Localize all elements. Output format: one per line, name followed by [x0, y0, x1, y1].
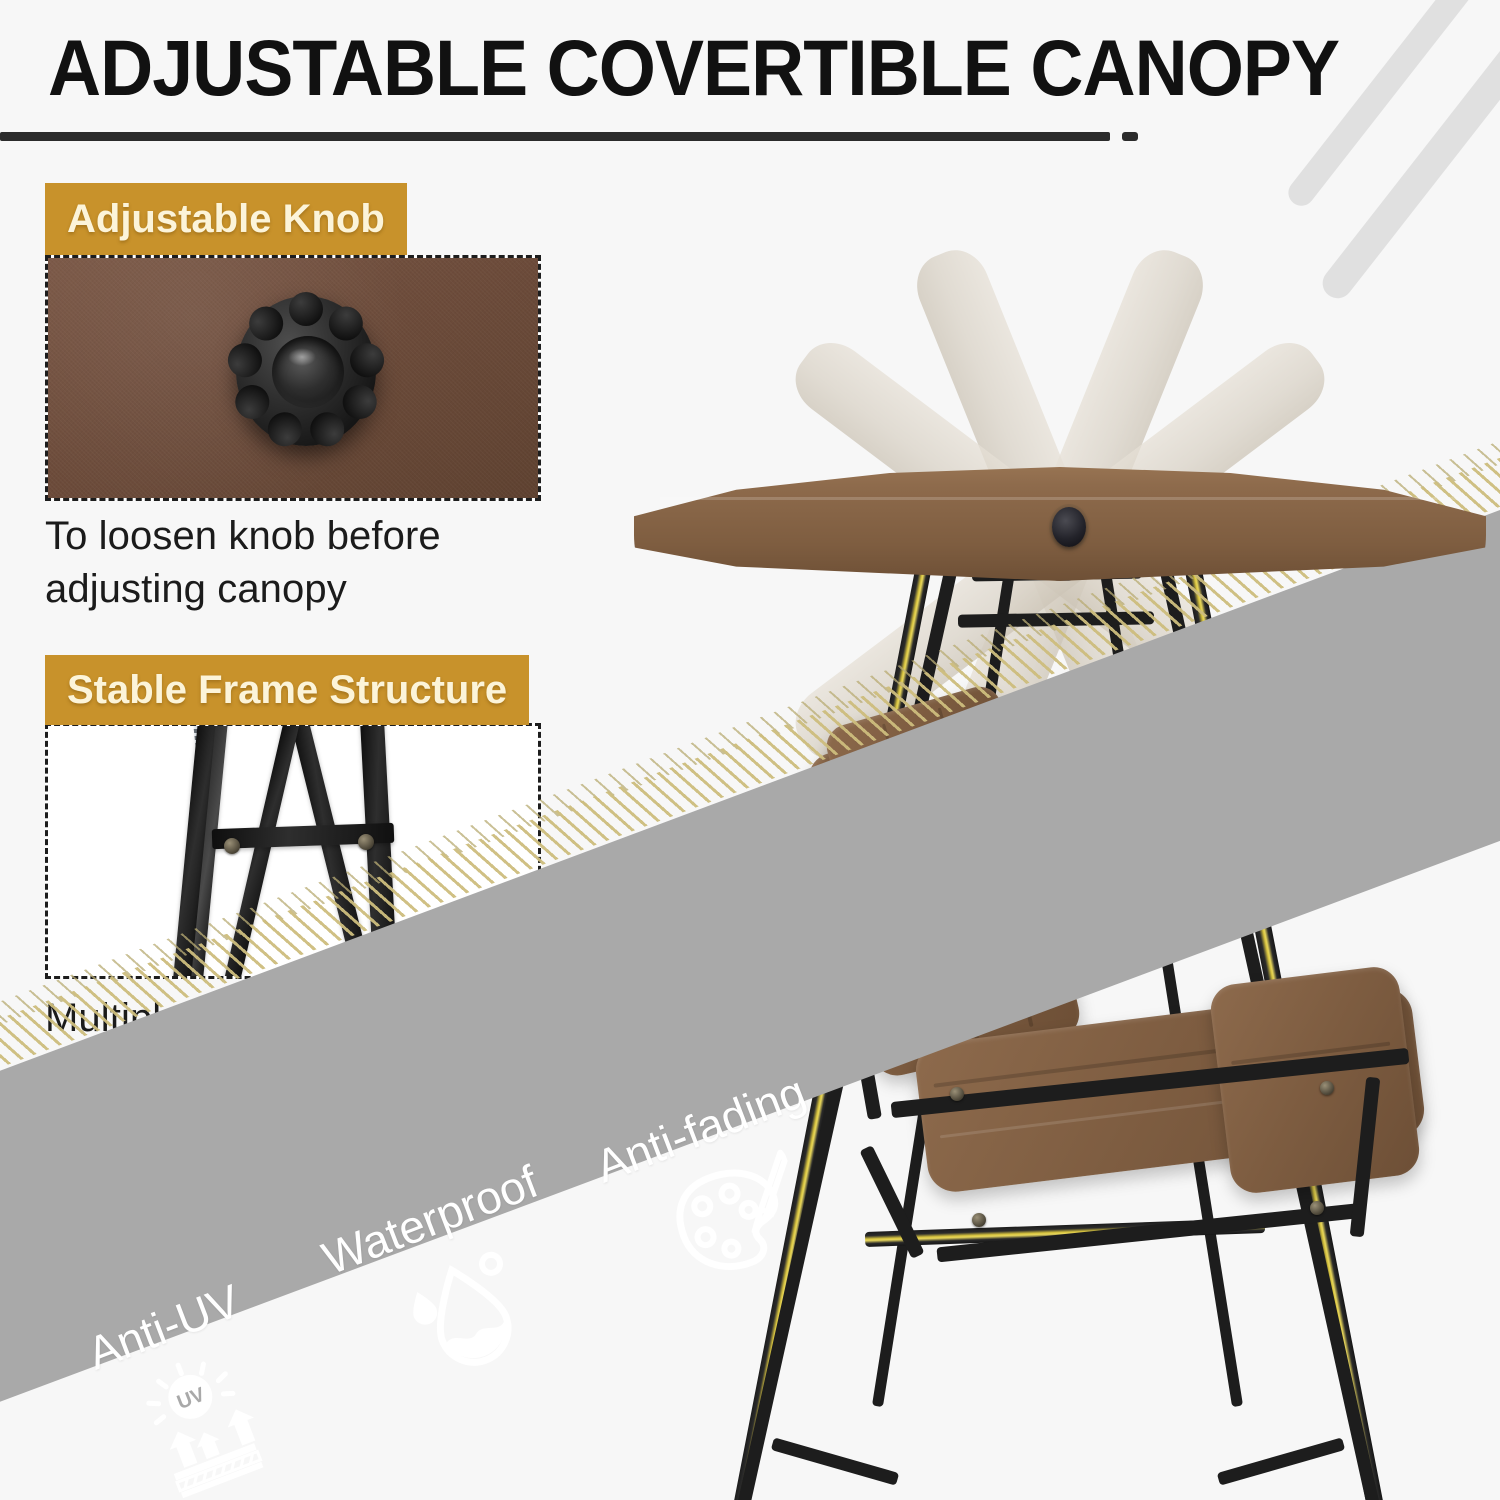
adjustable-knob-caption: To loosen knob before adjusting canopy	[45, 510, 525, 616]
stable-frame-banner: Stable Frame Structure	[45, 655, 529, 725]
knob-icon	[236, 296, 376, 446]
canopy-adjust-knob-icon	[1052, 507, 1086, 547]
title-divider-rule	[0, 132, 1110, 141]
adjustable-knob-banner-label: Adjustable Knob	[67, 197, 385, 242]
stable-frame-banner-label: Stable Frame Structure	[67, 668, 507, 713]
adjustable-knob-banner: Adjustable Knob	[45, 183, 407, 255]
canopy-panel	[634, 461, 1486, 581]
infographic-canvas: ADJUSTABLE COVERTIBLE CANOPY Adjustable …	[0, 0, 1500, 1500]
title-divider-dot	[1122, 132, 1138, 141]
adjustable-knob-photo	[45, 255, 541, 501]
page-title: ADJUSTABLE COVERTIBLE CANOPY	[48, 28, 1350, 107]
